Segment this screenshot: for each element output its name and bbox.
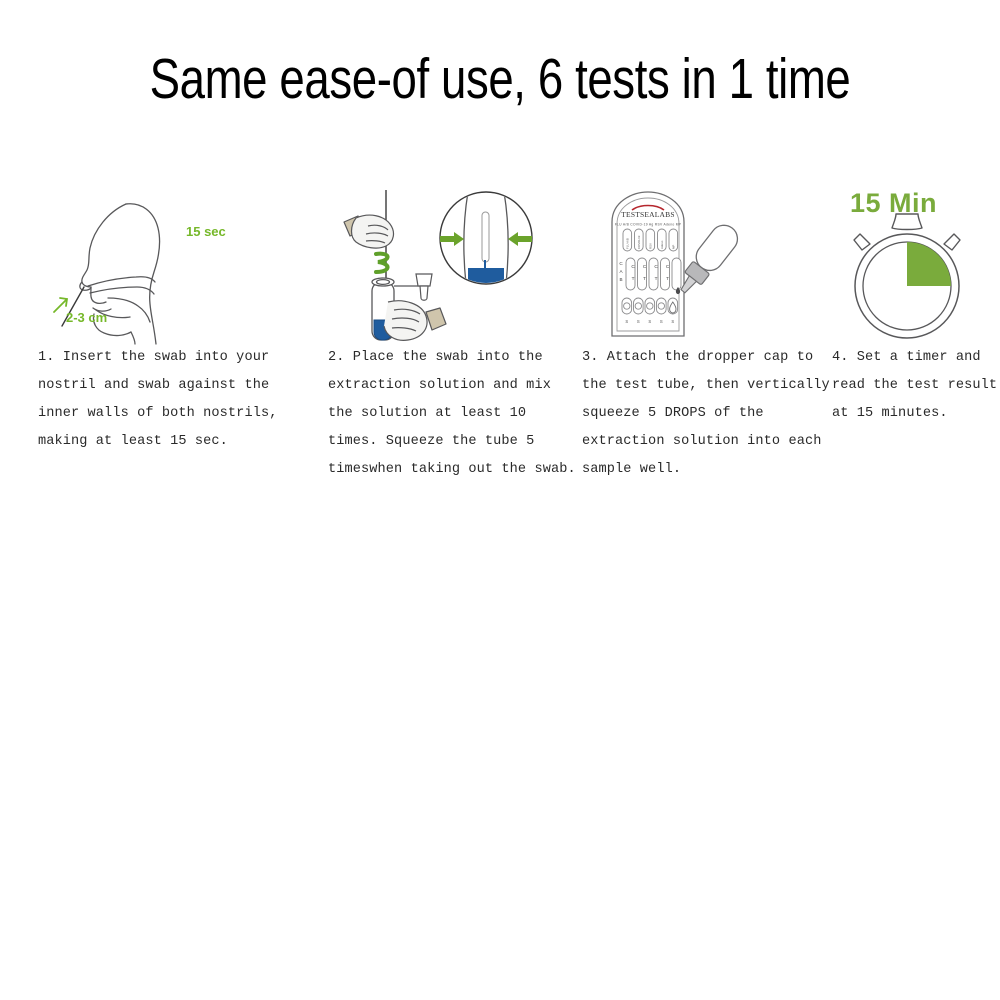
- step-4-text: 4. Set a timer and read the test result …: [832, 344, 1000, 428]
- svg-text:S: S: [671, 319, 674, 324]
- svg-text:MP: MP: [672, 245, 676, 249]
- svg-text:T: T: [632, 276, 635, 281]
- svg-text:COVID-19: COVID-19: [637, 235, 641, 249]
- svg-text:TESTSEALABS: TESTSEALABS: [621, 210, 674, 219]
- step-1-text: 1. Insert the swab into your nostril and…: [38, 344, 288, 456]
- swab-in-extraction-tube-illustration: [328, 186, 578, 344]
- svg-text:T: T: [666, 276, 669, 281]
- stopwatch-timer-illustration: 15 Min: [832, 186, 1000, 344]
- svg-text:S: S: [660, 319, 663, 324]
- step-2: 2. Place the swab into the extraction so…: [328, 186, 578, 484]
- label-2-3-cm: 2-3 cm: [66, 310, 107, 325]
- label-15-min: 15 Min: [850, 188, 937, 219]
- step-3: TESTSEALABS FLU A/B COVID-19 Ag RSV Aden…: [582, 186, 832, 484]
- label-15-sec: 15 sec: [186, 224, 226, 239]
- svg-text:B: B: [619, 277, 622, 282]
- steps-container: 15 sec 2-3 cm 1. Insert the swab into yo…: [0, 186, 1000, 606]
- svg-text:Adeno: Adeno: [660, 240, 664, 249]
- step-2-text: 2. Place the swab into the extraction so…: [328, 344, 578, 484]
- nasal-swab-illustration: 15 sec 2-3 cm: [38, 186, 288, 344]
- svg-text:S: S: [637, 319, 640, 324]
- svg-text:T: T: [643, 276, 646, 281]
- page-title: Same ease-of use, 6 tests in 1 time: [100, 48, 900, 111]
- step-4: 15 Min 4. Set a timer and read the test …: [832, 186, 1000, 428]
- svg-text:S: S: [648, 319, 651, 324]
- svg-text:FLU A/B COVID-19 Ag RSV Ad: FLU A/B COVID-19 Ag RSV Adeno MP: [615, 223, 682, 227]
- svg-text:T: T: [655, 276, 658, 281]
- svg-text:RSV: RSV: [649, 243, 653, 249]
- step-1: 15 sec 2-3 cm 1. Insert the swab into yo…: [38, 186, 288, 456]
- svg-text:FLU A/B: FLU A/B: [626, 238, 630, 249]
- step-3-text: 3. Attach the dropper cap to the test tu…: [582, 344, 832, 484]
- svg-text:S: S: [625, 319, 628, 324]
- test-cassette-dropper-illustration: TESTSEALABS FLU A/B COVID-19 Ag RSV Aden…: [582, 186, 832, 344]
